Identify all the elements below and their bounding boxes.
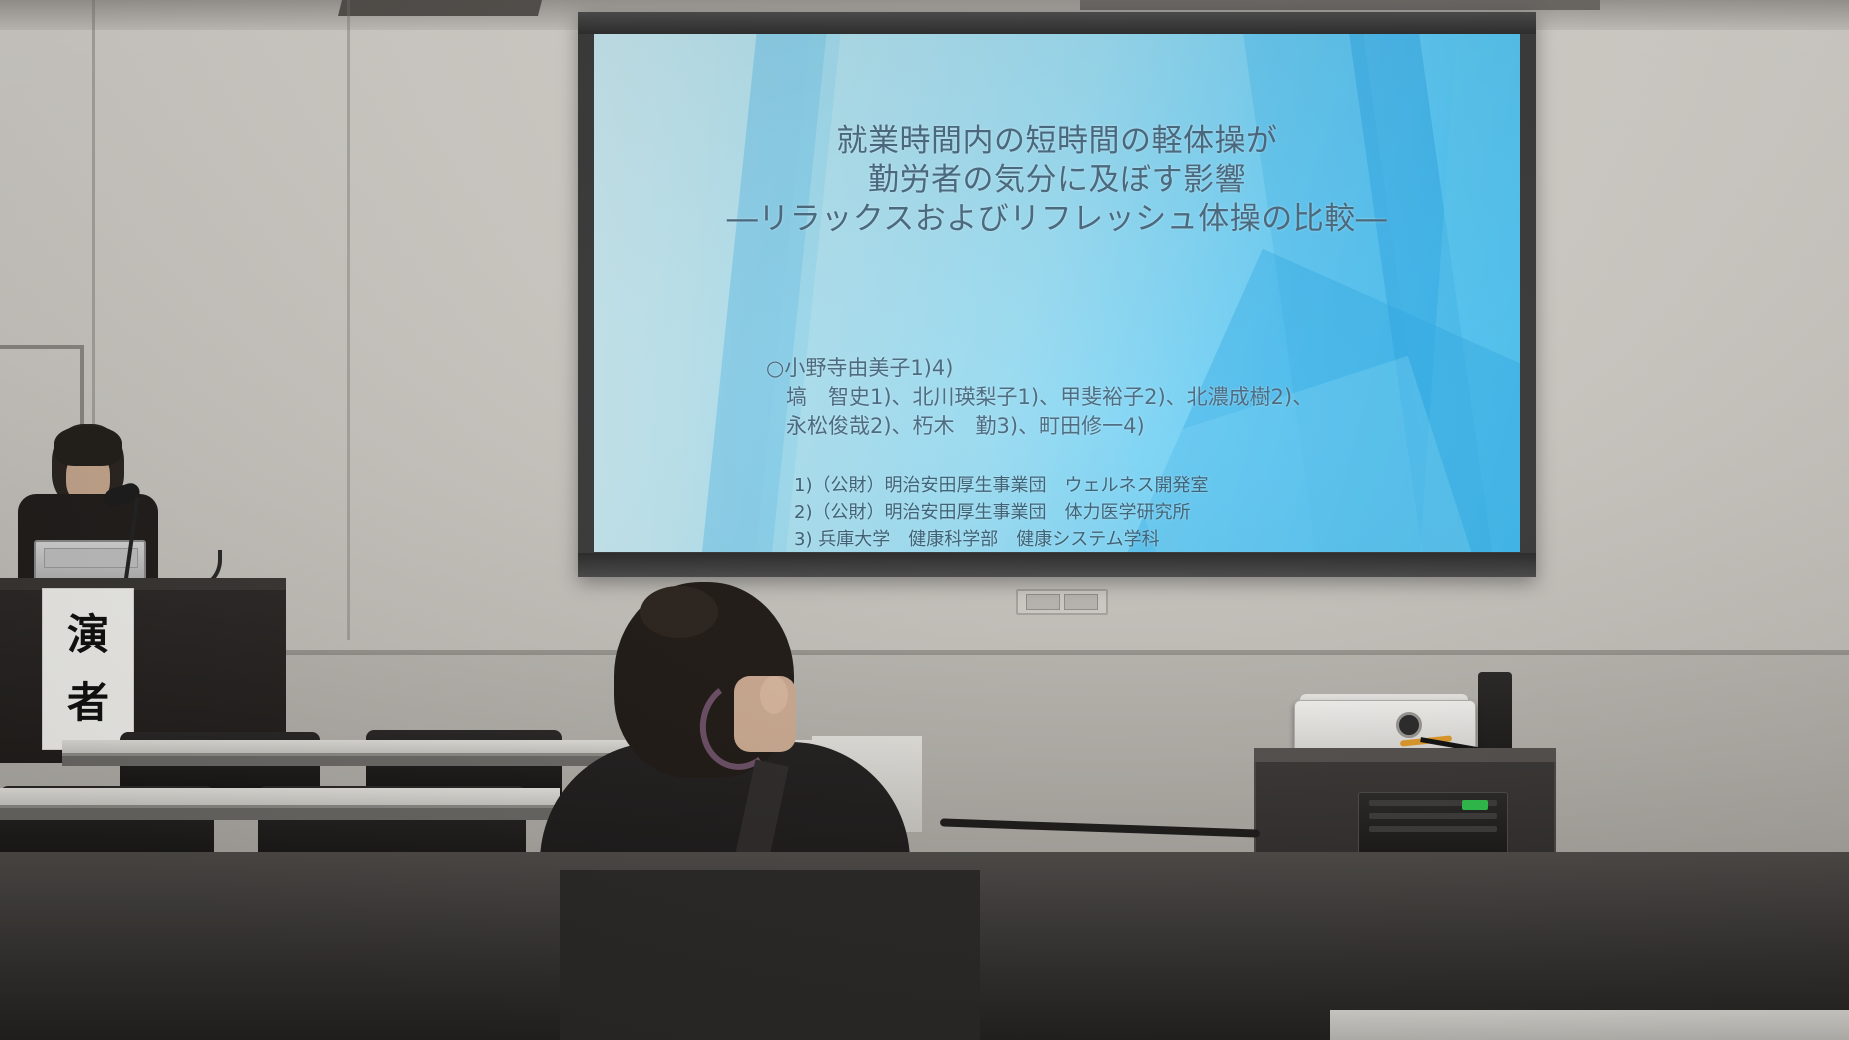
rack-slot xyxy=(1369,813,1497,819)
status-led-green xyxy=(1462,800,1488,810)
screen-top-bar xyxy=(578,12,1536,34)
socket-outlet-right xyxy=(1064,594,1098,610)
podium-sign-char-bottom: 者 xyxy=(67,682,109,724)
laptop-screen xyxy=(44,548,138,568)
presenter-hair xyxy=(54,426,122,466)
foreground-desk xyxy=(1330,1010,1849,1040)
ceiling-panel-left xyxy=(338,0,542,16)
presentation-slide: 就業時間内の短時間の軽体操が 勤労者の気分に及ぼす影響 ―リラックスおよびリフレ… xyxy=(594,34,1520,552)
podium-sign-char-top: 演 xyxy=(67,614,109,656)
affiliation-1: 1)（公財）明治安田厚生事業団 ウェルネス開発室 xyxy=(794,472,1208,499)
author-line-1: ○小野寺由美子1)4) xyxy=(766,354,1313,383)
slide-title-line-3: ―リラックスおよびリフレッシュ体操の比較― xyxy=(594,200,1520,239)
slide-title: 就業時間内の短時間の軽体操が 勤労者の気分に及ぼす影響 ―リラックスおよびリフレ… xyxy=(594,122,1520,239)
front-table-dark xyxy=(560,870,980,1040)
ceiling-panel-right xyxy=(1080,0,1600,10)
slide-title-line-2: 勤労者の気分に及ぼす影響 xyxy=(594,161,1520,200)
av-cart-shelf xyxy=(1254,748,1556,762)
podium-sign: 演 者 xyxy=(42,588,134,750)
attendee-hair-bun xyxy=(640,586,718,638)
author-line-2: 塙 智史1)、北川瑛梨子1)、甲斐裕子2)、北濃成樹2)、 xyxy=(786,383,1313,412)
author-line-3: 永松俊哉2)、朽木 勤3)、町田修一4) xyxy=(786,412,1313,441)
projector-lens-icon xyxy=(1396,712,1422,738)
table-row-front xyxy=(0,788,560,808)
wall-seam-right xyxy=(347,0,350,640)
lecture-hall-photo: 就業時間内の短時間の軽体操が 勤労者の気分に及ぼす影響 ―リラックスおよびリフレ… xyxy=(0,0,1849,1040)
slide-affiliations: 1)（公財）明治安田厚生事業団 ウェルネス開発室 2)（公財）明治安田厚生事業団… xyxy=(794,472,1208,552)
slide-authors: ○小野寺由美子1)4) 塙 智史1)、北川瑛梨子1)、甲斐裕子2)、北濃成樹2)… xyxy=(766,354,1313,441)
slide-title-line-1: 就業時間内の短時間の軽体操が xyxy=(594,122,1520,161)
projection-screen: 就業時間内の短時間の軽体操が 勤労者の気分に及ぼす影響 ―リラックスおよびリフレ… xyxy=(578,12,1536,577)
socket-outlet-left xyxy=(1026,594,1060,610)
screen-bottom-bar xyxy=(578,553,1536,577)
table-row-front-edge xyxy=(0,808,560,820)
affiliation-2: 2)（公財）明治安田厚生事業団 体力医学研究所 xyxy=(794,499,1208,526)
wall-socket[interactable] xyxy=(1016,589,1108,615)
rack-slot xyxy=(1369,826,1497,832)
affiliation-3: 3) 兵庫大学 健康科学部 健康システム学科 xyxy=(794,526,1208,552)
